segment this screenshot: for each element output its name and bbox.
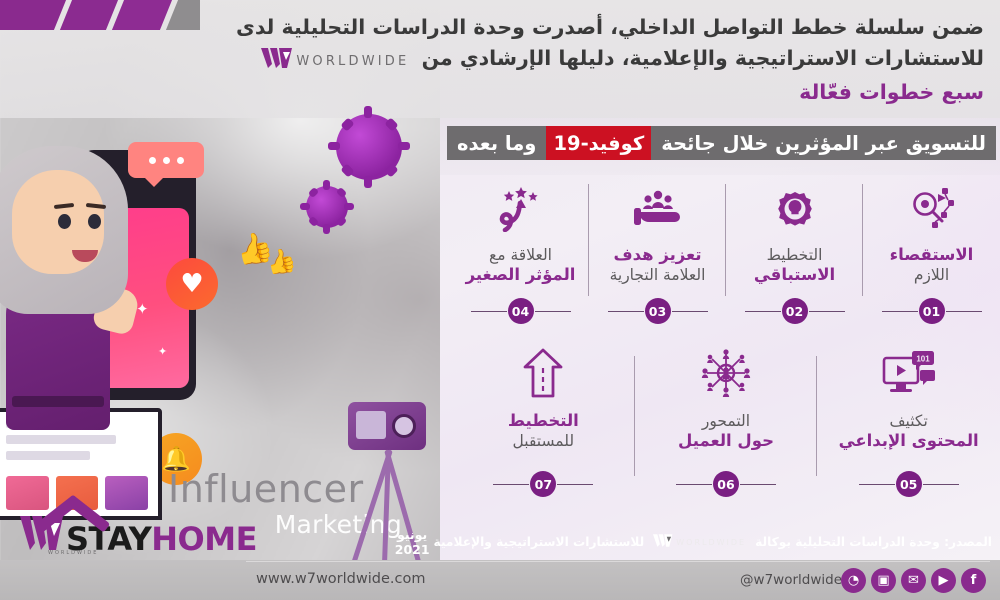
monitor-content-icon: 101 — [882, 342, 936, 398]
source-text: المصدر: وحدة الدراسات التحليلية بوكالة W… — [434, 534, 1000, 550]
step-line-1: تعزيز هدف — [610, 245, 706, 265]
banner-highlight-covid: كوفيد-19 — [546, 126, 651, 160]
step-line-1: العلاقة مع — [466, 245, 576, 265]
headline-line-2-text: للاستشارات الاستراتيجية والإعلامية، دليل… — [422, 46, 984, 70]
step-line-2: حول العميل — [678, 431, 774, 451]
step-card-02[interactable]: التخطيط الاستباقي 02 — [726, 172, 863, 338]
influencer-character — [0, 140, 136, 430]
step-number-row: 02 — [726, 298, 863, 324]
step-number-row: 05 — [817, 471, 1000, 497]
house-roof-icon — [38, 498, 108, 528]
road-arrow-icon — [519, 342, 567, 398]
step-card-01[interactable]: الاستقصاء اللازم 01 — [863, 172, 1000, 338]
sparkle-icon: ✦ — [158, 345, 167, 358]
stars-arrow-icon — [497, 176, 545, 232]
step-number-badge: 07 — [530, 471, 556, 497]
step-card-04[interactable]: العلاقة مع المؤثر الصغير 04 — [452, 172, 589, 338]
svg-text:101: 101 — [916, 355, 930, 364]
snapchat-icon[interactable]: ◔ — [841, 568, 866, 593]
source-text-head: المصدر: وحدة الدراسات التحليلية بوكالة — [755, 535, 992, 549]
camera-icon — [348, 402, 426, 450]
step-number-badge: 06 — [713, 471, 739, 497]
gear-lightbulb-icon — [771, 176, 819, 232]
twitter-icon[interactable]: ✉ — [901, 568, 926, 593]
source-text-tail: للاستشارات الاستراتيجية والإعلامية — [434, 535, 645, 549]
infographic-canvas: ضمن سلسلة خطط التواصل الداخلي، أصدرت وحد… — [0, 0, 1000, 600]
virus-icon — [306, 186, 348, 228]
step-number-row: 01 — [863, 298, 1000, 324]
step-line-2: للمستقبل — [508, 431, 579, 451]
w7-worldwide-wordmark: WORLDWIDE — [296, 46, 409, 77]
step-line-2: الاستباقي — [754, 265, 835, 285]
step-number-row: 03 — [589, 298, 726, 324]
headline-line-1: ضمن سلسلة خطط التواصل الداخلي، أصدرت وحد… — [224, 12, 984, 43]
step-number-badge: 04 — [508, 298, 534, 324]
w7-sub-wordmark: WORLDWIDE — [48, 550, 98, 556]
virus-icon — [336, 114, 402, 180]
steps-row-bottom: 101 تكثيف المحتوى الإبداعي 05 — [452, 338, 1000, 513]
step-line-1: تكثيف — [839, 411, 979, 431]
illustration-group: ✦ ✦ 👍 👍 ♥ 🔔 — [0, 140, 300, 520]
headline-line-2: للاستشارات الاستراتيجية والإعلامية، دليل… — [224, 43, 984, 77]
footer-divider — [246, 561, 990, 562]
header: ضمن سلسلة خطط التواصل الداخلي، أصدرت وحد… — [0, 0, 1000, 118]
step-number-badge: 05 — [896, 471, 922, 497]
step-label-05: تكثيف المحتوى الإبداعي — [839, 411, 979, 451]
step-number-badge: 01 — [919, 298, 945, 324]
thumbs-up-icon: 👍 — [263, 245, 298, 279]
website-link[interactable]: www.w7worldwide.com — [256, 571, 425, 587]
step-number-badge: 03 — [645, 298, 671, 324]
footer-bar: www.w7worldwide.com @w7worldwide ◔ ▣ ✉ ▶… — [0, 560, 1000, 600]
step-number-row: 07 — [452, 471, 635, 497]
step-line-2: العلامة التجارية — [610, 265, 706, 285]
step-label-01: الاستقصاء اللازم — [890, 245, 974, 285]
customer-network-icon — [699, 342, 753, 398]
step-line-2: اللازم — [890, 265, 974, 285]
corner-stripes-decoration — [0, 0, 200, 30]
social-icons: ◔ ▣ ✉ ▶ f — [841, 568, 986, 593]
step-card-05[interactable]: 101 تكثيف المحتوى الإبداعي 05 — [817, 338, 1000, 513]
headline-line-3: سبع خطوات فعّالة — [224, 77, 984, 108]
source-bar: المصدر: وحدة الدراسات التحليلية بوكالة W… — [404, 530, 1000, 554]
w7-worldwide-logo: WORLDWIDE — [261, 46, 409, 77]
subtitle-banner: للتسويق عبر المؤثرين خلال جائحة كوفيد-19… — [447, 126, 996, 160]
step-line-2: المحتوى الإبداعي — [839, 431, 979, 451]
w7-mark-icon — [653, 534, 673, 550]
step-line-1: التخطيط — [508, 411, 579, 431]
step-number-badge: 02 — [782, 298, 808, 324]
step-line-1: التخطيط — [754, 245, 835, 265]
steps-grid: الاستقصاء اللازم 01 — [452, 172, 1000, 527]
headline: ضمن سلسلة خطط التواصل الداخلي، أصدرت وحد… — [224, 12, 984, 108]
step-label-04: العلاقة مع المؤثر الصغير — [466, 245, 576, 285]
step-label-02: التخطيط الاستباقي — [754, 245, 835, 285]
steps-row-top: الاستقصاء اللازم 01 — [452, 172, 1000, 338]
step-card-03[interactable]: تعزيز هدف العلامة التجارية 03 — [589, 172, 726, 338]
step-label-03: تعزيز هدف العلامة التجارية — [610, 245, 706, 285]
home-word: HOME — [151, 520, 257, 558]
banner-right-text: للتسويق عبر المؤثرين خلال جائحة — [651, 126, 996, 160]
step-card-07[interactable]: التخطيط للمستقبل 07 — [452, 338, 635, 513]
research-magnifier-icon — [908, 176, 956, 232]
facebook-icon[interactable]: f — [961, 568, 986, 593]
step-line-2: المؤثر الصغير — [466, 265, 576, 285]
sparkle-icon: ✦ — [136, 300, 149, 318]
w7-worldwide-logo: WORLDWIDE — [653, 534, 746, 550]
instagram-icon[interactable]: ▣ — [871, 568, 896, 593]
hand-people-icon — [633, 176, 683, 232]
step-number-row: 06 — [635, 471, 818, 497]
w7-worldwide-wordmark: WORLDWIDE — [676, 538, 746, 547]
stay-home-logo: STAY HOME WORLDWIDE — [14, 512, 314, 562]
step-line-1: التمحور — [678, 411, 774, 431]
step-card-06[interactable]: التمحور حول العميل 06 — [635, 338, 818, 513]
w7-mark-icon — [261, 46, 293, 77]
step-label-07: التخطيط للمستقبل — [508, 411, 579, 451]
step-label-06: التمحور حول العميل — [678, 411, 774, 451]
source-date: يونيو 2021 — [395, 527, 430, 557]
social-handle: @w7worldwide — [740, 572, 842, 588]
youtube-icon[interactable]: ▶ — [931, 568, 956, 593]
banner-left-text: وما بعده — [447, 126, 546, 160]
heart-icon: ♥ — [166, 258, 218, 310]
chat-bubble-icon — [128, 142, 204, 178]
step-number-row: 04 — [452, 298, 589, 324]
step-line-1: الاستقصاء — [890, 245, 974, 265]
